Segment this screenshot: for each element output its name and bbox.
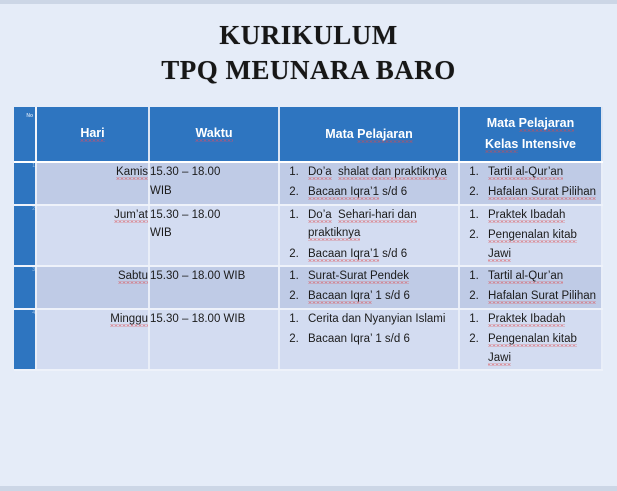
header-label-mata-pelajaran: Mata Pelajaran [325,127,413,141]
row-number-cell: 2 [14,205,36,266]
list-item: Bacaan Iqra’1 s/d 6 [302,245,458,263]
list-item: Praktek Ibadah [482,310,601,328]
list-item: Surat-Surat Pendek [302,267,458,285]
header-cell-no: No [14,107,36,162]
header-cell-hari: Hari [36,107,149,162]
list-item: Tartil al-Qur’an [482,267,601,285]
header-label-intensive-line2: Kelas Intensive [485,134,576,155]
list-item: Hafalan Surat Pilihan [482,183,601,201]
list-item: Praktek Ibadah [482,206,601,224]
cell-hari: Jum’at [36,205,149,266]
curriculum-table-container: No Hari Waktu Mata Pelajaran [14,107,602,371]
title-line-2: TPQ MEUNARA BARO [0,53,617,88]
list-item: Tartil al-Qur’an [482,163,601,181]
intensive-list: Tartil al-Qur’an Hafalan Surat Pilihan [460,267,601,306]
header-no-label: No [14,107,35,161]
lesson-list: Do’a shalat dan praktiknya Bacaan Iqra’1… [280,163,458,202]
cell-kelas-intensive: Praktek Ibadah Pengenalan kitab Jawi [459,205,602,266]
list-item: Bacaan Iqra’1 s/d 6 [302,183,458,201]
header-label-waktu: Waktu [195,126,232,142]
cell-hari: Minggu [36,309,149,370]
table-row: 3 Sabtu 15.30 – 18.00 WIB Surat-Surat Pe… [14,266,602,309]
table-row: 1 Kamis 15.30 – 18.00WIB Do’a shalat dan… [14,162,602,205]
header-word-pelajaran-2: Pelajaran [519,116,575,132]
list-item: Pengenalan kitab Jawi [482,330,601,367]
row-number-cell: 3 [14,266,36,309]
header-cell-mata-pelajaran: Mata Pelajaran [279,107,459,162]
list-item: Do’a Sehari-hari dan praktiknya [302,206,458,243]
cell-waktu: 15.30 – 18.00WIB [149,205,279,266]
list-item: Cerita dan Nyanyian Islami [302,310,458,328]
cell-mata-pelajaran: Do’a Sehari-hari dan praktiknya Bacaan I… [279,205,459,266]
slide-title: KURIKULUM TPQ MEUNARA BARO [0,4,617,88]
cell-mata-pelajaran: Do’a shalat dan praktiknya Bacaan Iqra’1… [279,162,459,205]
cell-waktu: 15.30 – 18.00 WIB [149,266,279,309]
cell-hari: Kamis [36,162,149,205]
header-word-pelajaran: Pelajaran [357,127,413,143]
presentation-slide: KURIKULUM TPQ MEUNARA BARO No Hari Waktu [0,0,617,491]
cell-kelas-intensive: Tartil al-Qur’an Hafalan Surat Pilihan [459,266,602,309]
cell-kelas-intensive: Tartil al-Qur’an Hafalan Surat Pilihan [459,162,602,205]
row-number-cell: 1 [14,162,36,205]
list-item: Do’a shalat dan praktiknya [302,163,458,181]
title-line-1: KURIKULUM [0,18,617,53]
cell-mata-pelajaran: Cerita dan Nyanyian Islami Bacaan Iqra’ … [279,309,459,370]
row-number-cell: 4 [14,309,36,370]
cell-waktu: 15.30 – 18.00 WIB [149,309,279,370]
list-item: Bacaan Iqra’ 1 s/d 6 [302,330,458,348]
list-item: Hafalan Surat Pilihan [482,287,601,305]
lesson-list: Surat-Surat Pendek Bacaan Iqra’ 1 s/d 6 [280,267,458,306]
cell-hari: Sabtu [36,266,149,309]
header-label-intensive-line1: Mata Pelajaran [487,113,575,134]
intensive-list: Praktek Ibadah Pengenalan kitab Jawi [460,310,601,367]
table-row: 2 Jum’at 15.30 – 18.00WIB Do’a Sehari-ha… [14,205,602,266]
curriculum-table: No Hari Waktu Mata Pelajaran [14,107,603,371]
cell-mata-pelajaran: Surat-Surat Pendek Bacaan Iqra’ 1 s/d 6 [279,266,459,309]
lesson-list: Cerita dan Nyanyian Islami Bacaan Iqra’ … [280,310,458,349]
header-label-hari: Hari [80,126,104,142]
list-item: Bacaan Iqra’ 1 s/d 6 [302,287,458,305]
intensive-list: Tartil al-Qur’an Hafalan Surat Pilihan [460,163,601,202]
table-header-row: No Hari Waktu Mata Pelajaran [14,107,602,162]
lesson-list: Do’a Sehari-hari dan praktiknya Bacaan I… [280,206,458,263]
cell-waktu: 15.30 – 18.00WIB [149,162,279,205]
cell-kelas-intensive: Praktek Ibadah Pengenalan kitab Jawi [459,309,602,370]
header-cell-waktu: Waktu [149,107,279,162]
header-word-kelas: Kelas [485,137,518,153]
table-row: 4 Minggu 15.30 – 18.00 WIB Cerita dan Ny… [14,309,602,370]
list-item: Pengenalan kitab Jawi [482,226,601,263]
intensive-list: Praktek Ibadah Pengenalan kitab Jawi [460,206,601,263]
header-cell-kelas-intensive: Mata Pelajaran Kelas Intensive [459,107,602,162]
